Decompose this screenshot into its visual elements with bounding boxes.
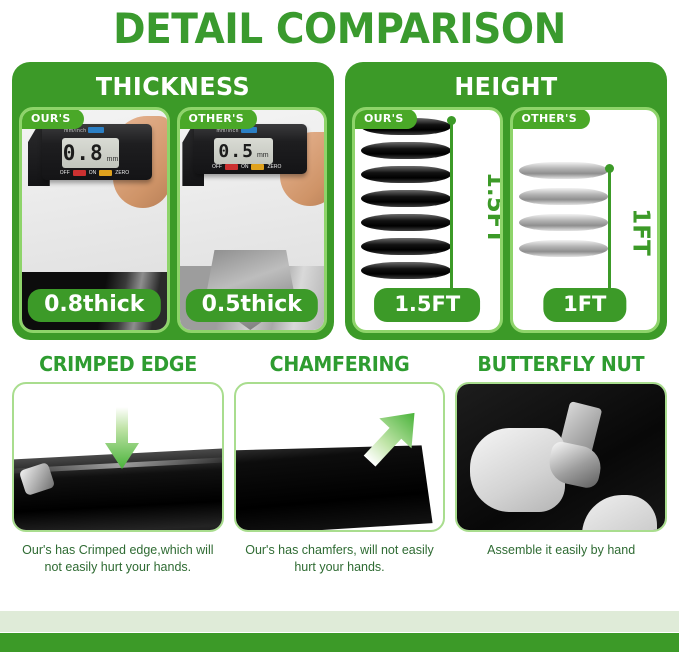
feature-crimped-edge: CRIMPED EDGE Our's has Crimped edge,whic… xyxy=(12,352,224,576)
feature-chamfering-title: CHAMFERING xyxy=(270,352,410,376)
arrow-down-icon xyxy=(105,407,139,469)
feature-chamfering-image xyxy=(234,382,446,532)
page-title: DETAIL COMPARISON xyxy=(24,0,655,50)
thickness-card-ours: mm/inch 0.8 mm OFF ON ZERO xyxy=(19,107,170,333)
value-pill-ours-height: 1.5FT xyxy=(374,288,480,322)
panel-thickness-title: THICKNESS xyxy=(27,68,320,107)
feature-butterfly-nut: BUTTERFLY NUT Assemble it easily by hand xyxy=(455,352,667,576)
measure-label-ours: 1.5FT xyxy=(482,172,502,244)
caliper-button-off-label: OFF xyxy=(60,170,70,176)
measure-label-others: 1FT xyxy=(628,208,654,255)
feature-chamfering: CHAMFERING Our's has chamfers, will not … xyxy=(234,352,446,576)
feature-crimped-edge-caption: Our's has Crimped edge,which will not ea… xyxy=(12,542,224,576)
caliper-button-on-label: ON xyxy=(89,170,97,176)
caliper-unit-others: mm xyxy=(257,152,269,159)
comparison-row: THICKNESS mm/inch 0.8 mm xyxy=(0,50,679,340)
caliper-button-zero-label: ZERO xyxy=(115,170,129,176)
caliper-reading-others: 0.5 xyxy=(218,141,254,162)
caliper-buttons-ours: OFF ON ZERO xyxy=(60,170,129,176)
owner-badge-others-thickness: OTHER'S xyxy=(179,109,257,129)
bottom-green-band xyxy=(0,633,679,652)
thickness-card-others: mm/inch 0.5 mm OFF ON ZERO xyxy=(177,107,328,333)
panel-thickness-body: mm/inch 0.8 mm OFF ON ZERO xyxy=(19,107,327,333)
owner-badge-ours-height: OUR'S xyxy=(354,109,417,129)
bottom-light-band xyxy=(0,611,679,632)
panel-thickness: THICKNESS mm/inch 0.8 mm xyxy=(12,62,334,340)
owner-badge-others-height: OTHER'S xyxy=(512,109,590,129)
caliper-reading-ours: 0.8 xyxy=(63,141,104,165)
feature-butterfly-nut-caption: Assemble it easily by hand xyxy=(483,542,639,559)
caliper-indicator xyxy=(88,127,104,133)
owner-badge-ours-thickness: OUR'S xyxy=(21,109,84,129)
caliper-screen-ours: 0.8 mm xyxy=(62,138,119,168)
panel-height-title: HEIGHT xyxy=(360,68,653,107)
feature-butterfly-nut-title: BUTTERFLY NUT xyxy=(478,352,645,376)
feature-row: CRIMPED EDGE Our's has Crimped edge,whic… xyxy=(0,340,679,576)
feature-crimped-edge-title: CRIMPED EDGE xyxy=(39,352,197,376)
feature-crimped-edge-image xyxy=(12,382,224,532)
caliper-buttons-others: OFF ON ZERO xyxy=(212,164,281,170)
height-card-ours: 1.5FT OUR'S 1.5FT xyxy=(352,107,503,333)
feature-chamfering-caption: Our's has chamfers, will not easily hurt… xyxy=(234,542,446,576)
panel-height-body: 1.5FT OUR'S 1.5FT 1FT xyxy=(352,107,660,333)
height-card-others: 1FT OTHER'S 1FT xyxy=(510,107,661,333)
feature-butterfly-nut-image xyxy=(455,382,667,532)
value-pill-ours-thickness: 0.8thick xyxy=(28,289,160,322)
value-pill-others-thickness: 0.5thick xyxy=(186,289,318,322)
value-pill-others-height: 1FT xyxy=(543,288,626,322)
caliper-unit-ours: mm xyxy=(107,156,119,163)
caliper-screen-others: 0.5 mm xyxy=(214,138,273,164)
panel-height: HEIGHT 1.5FT xyxy=(345,62,667,340)
